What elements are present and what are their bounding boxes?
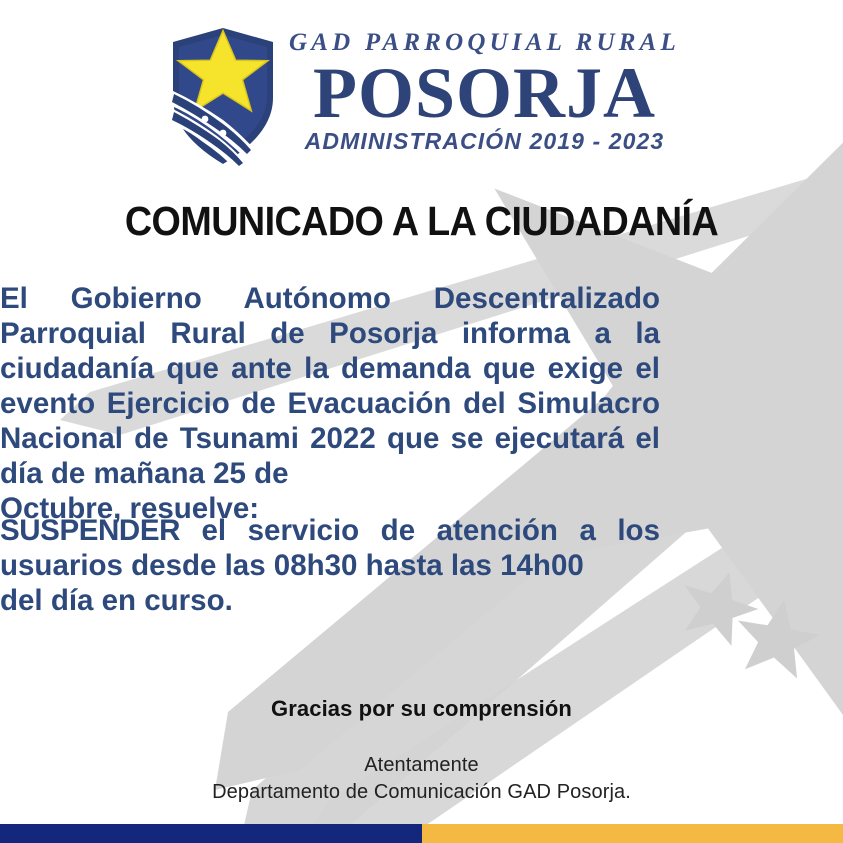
announcement-paragraph-2: SUSPENDER el servicio de atención a los …: [0, 513, 660, 618]
logo-line-main: POSORJA: [289, 59, 680, 128]
department-line: Departamento de Comunicación GAD Posorja…: [0, 779, 843, 806]
bottom-bar-blue-segment: [0, 824, 422, 843]
logo-wordmark: GAD PARROQUIAL RURAL POSORJA ADMINISTRAC…: [289, 30, 680, 153]
bottom-color-bar: [0, 824, 843, 843]
paragraph-1-text: El Gobierno Autónomo Descentralizado Par…: [0, 282, 660, 490]
logo-line-bottom: ADMINISTRACIÓN 2019 - 2023: [289, 130, 680, 153]
page-title: COMUNICADO A LA CIUDADANÍA: [34, 198, 810, 245]
sign-off-line: Atentamente: [0, 752, 843, 779]
suspension-keyword: SUSPENDER: [0, 514, 180, 547]
bottom-bar-gold-segment: [422, 824, 843, 843]
announcement-poster: GAD PARROQUIAL RURAL POSORJA ADMINISTRAC…: [0, 0, 843, 843]
logo-line-top: GAD PARROQUIAL RURAL: [289, 30, 680, 55]
shield-with-star-icon: [163, 24, 283, 172]
organization-logo: GAD PARROQUIAL RURAL POSORJA ADMINISTRAC…: [0, 18, 843, 178]
small-grey-star-watermark: [730, 593, 825, 681]
signature-block: Atentamente Departamento de Comunicación…: [0, 752, 843, 806]
paragraph-2-last-line: del día en curso.: [0, 583, 660, 618]
thanks-message: Gracias por su comprensión: [0, 696, 843, 722]
small-grey-star-watermark: [671, 560, 766, 650]
announcement-paragraph-1: El Gobierno Autónomo Descentralizado Par…: [0, 281, 660, 526]
